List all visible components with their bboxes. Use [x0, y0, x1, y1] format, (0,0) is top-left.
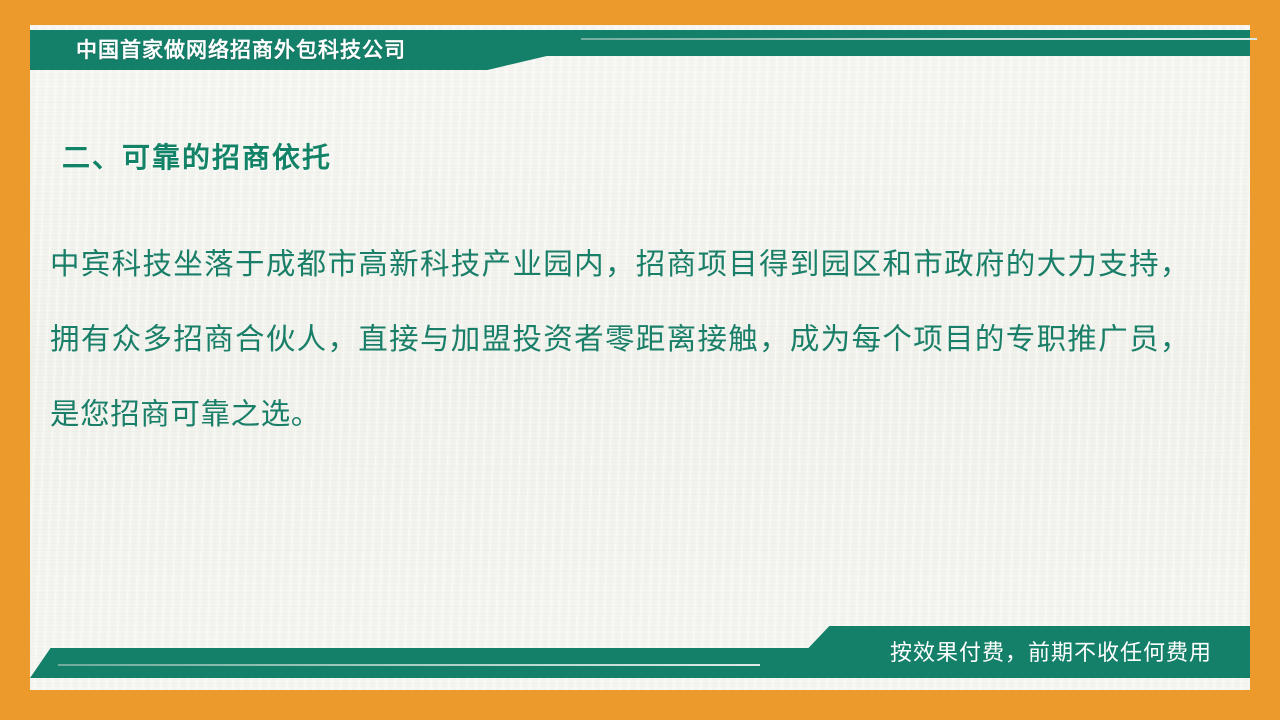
body-paragraph: 中宾科技坐落于成都市高新科技产业园内，招商项目得到园区和市政府的大力支持，拥有众… [50, 228, 1190, 453]
footer-accent-bar [30, 648, 820, 678]
header-title: 中国首家做网络招商外包科技公司 [76, 30, 406, 70]
slide-header-ribbon: 中国首家做网络招商外包科技公司 [30, 30, 1250, 70]
presentation-slide: 中国首家做网络招商外包科技公司 二、可靠的招商依托 中宾科技坐落于成都市高新科技… [0, 0, 1280, 720]
slide-footer-ribbon: 按效果付费，前期不收任何费用 [30, 626, 1250, 678]
header-accent-bar [535, 30, 1250, 56]
footer-hairline-divider [58, 664, 760, 666]
section-heading: 二、可靠的招商依托 [62, 136, 332, 176]
footer-tagline: 按效果付费，前期不收任何费用 [890, 626, 1212, 678]
header-hairline-divider [581, 38, 1257, 40]
